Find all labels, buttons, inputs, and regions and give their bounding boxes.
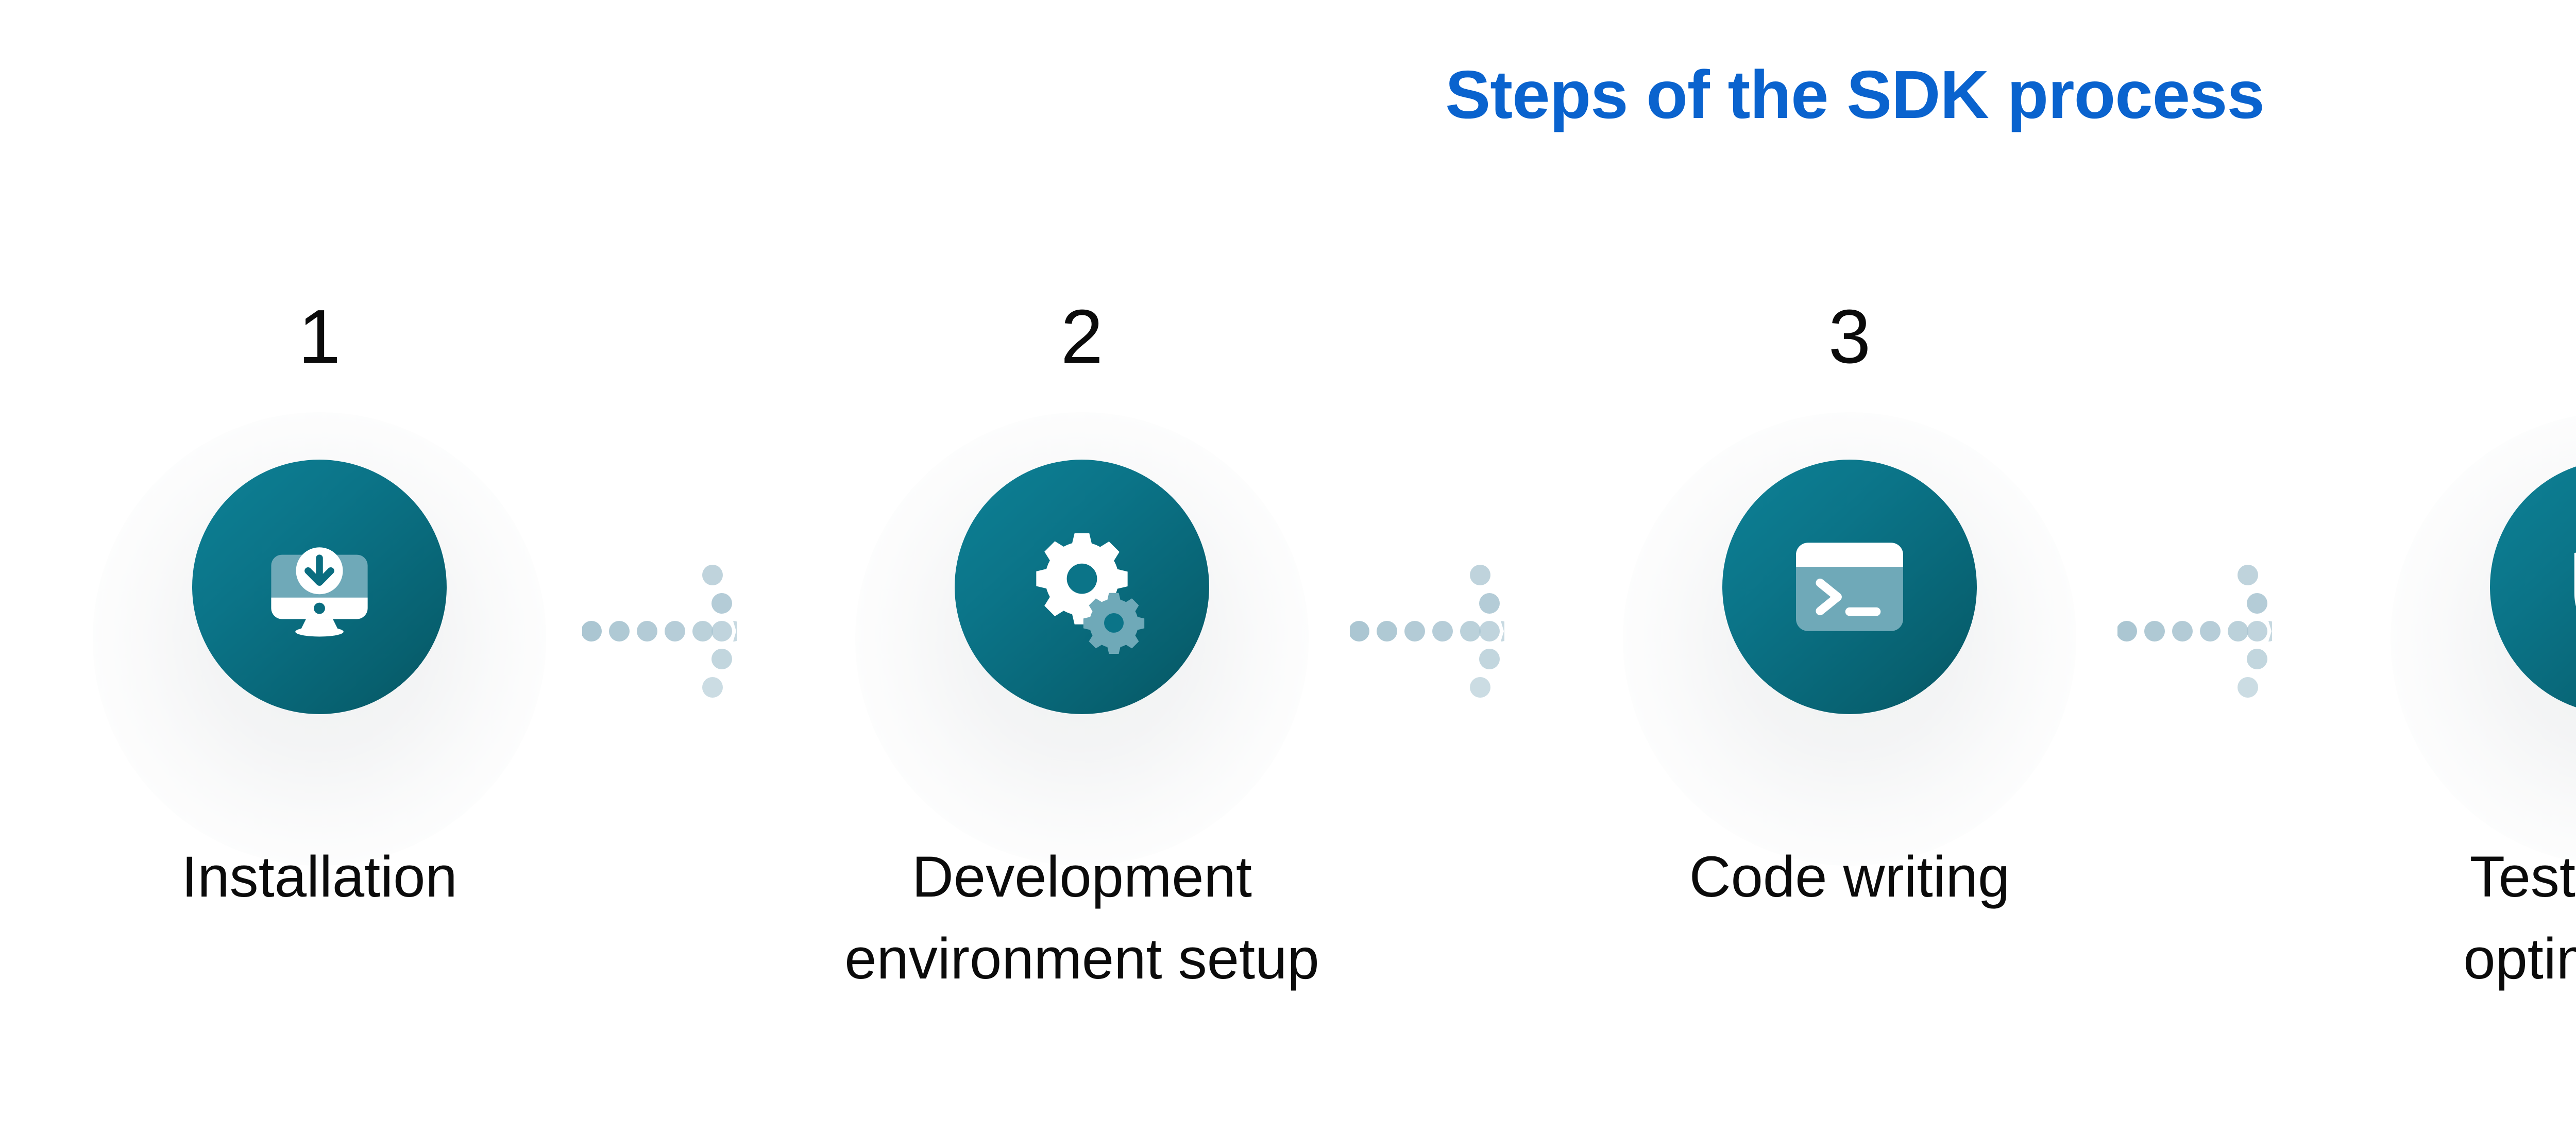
step-1[interactable]: 1 Installation	[0, 0, 675, 1148]
monitor-download-icon	[252, 520, 386, 654]
terminal-icon	[1783, 520, 1917, 654]
step-number-3: 3	[1494, 299, 2205, 375]
step-label-3: Code writing	[1494, 836, 2205, 918]
step-label-4: Testing and optimization	[2262, 836, 2576, 1000]
dotted-arrow-icon	[582, 556, 737, 706]
step-4[interactable]: 4 Testing and optimization	[2262, 0, 2576, 1148]
gears-icon	[1015, 520, 1149, 654]
step-number-1: 1	[0, 299, 675, 375]
dotted-arrow-3	[2117, 556, 2272, 706]
step-number-4: 4	[2262, 299, 2576, 375]
step-icon-circle-1[interactable]	[192, 460, 447, 714]
step-number-2: 2	[726, 299, 1437, 375]
dotted-arrow-icon	[1350, 556, 1504, 706]
step-label-1: Installation	[0, 836, 675, 918]
step-icon-circle-3[interactable]	[1722, 460, 1977, 714]
shield-check-icon	[2550, 520, 2576, 654]
dotted-arrow-icon	[2117, 556, 2272, 706]
dotted-arrow-1	[582, 556, 737, 706]
dotted-arrow-2	[1350, 556, 1504, 706]
steps-row: 1 Installation2 Development environment …	[0, 0, 2576, 1148]
step-2[interactable]: 2 Development environment setup	[726, 0, 1437, 1148]
step-3[interactable]: 3 Code writing	[1494, 0, 2205, 1148]
step-icon-circle-2[interactable]	[955, 460, 1209, 714]
step-label-2: Development environment setup	[726, 836, 1437, 1000]
step-icon-circle-4[interactable]	[2490, 460, 2576, 714]
